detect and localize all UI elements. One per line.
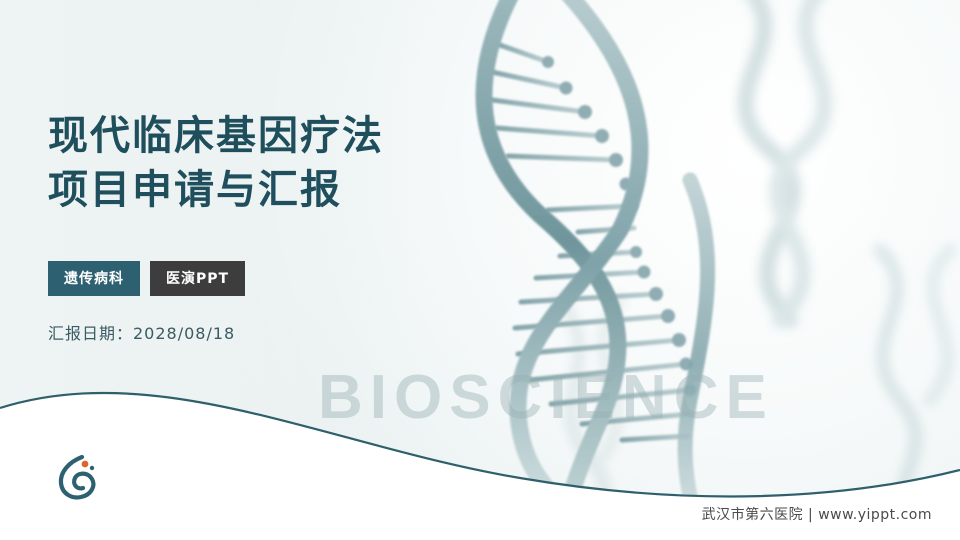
page-title-line-2: 项目申请与汇报	[48, 164, 608, 218]
tag-department[interactable]: 遗传病科	[48, 261, 140, 296]
report-date: 汇报日期：2028/08/18	[48, 320, 608, 344]
page-title-line-1: 现代临床基因疗法	[48, 110, 608, 164]
tag-brand[interactable]: 医演PPT	[150, 261, 245, 296]
presentation-slide: BIOSCIENCE 现代临床基因疗法 项目申请与汇报 遗传病科 医演PPT 汇…	[0, 0, 960, 540]
tag-group: 遗传病科 医演PPT	[48, 261, 608, 296]
title-block: 现代临床基因疗法 项目申请与汇报 遗传病科 医演PPT 汇报日期：2028/08…	[48, 110, 608, 344]
footer-credit: 武汉市第六医院 | www.yippt.com	[702, 504, 932, 524]
hospital-logo-icon	[52, 450, 112, 502]
